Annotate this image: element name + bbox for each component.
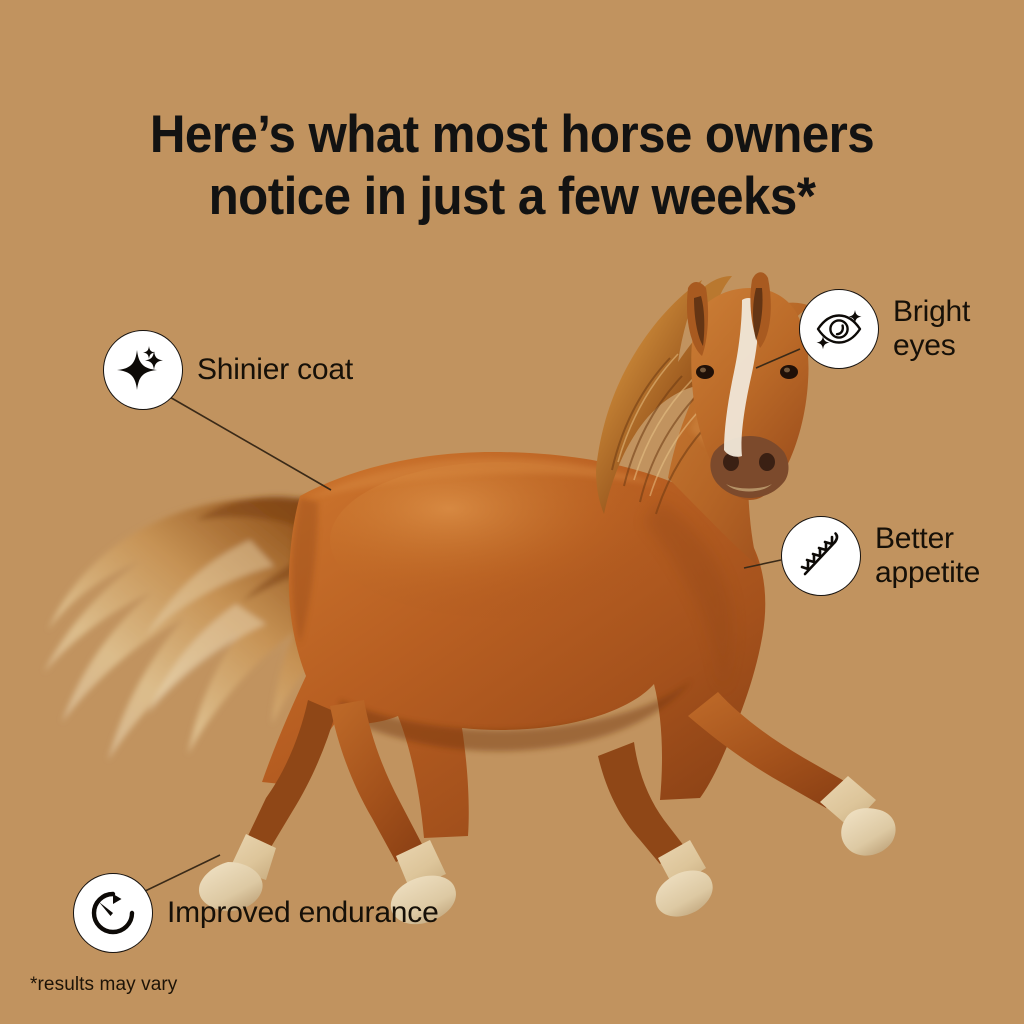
callout-label-bright-eyes: Bright eyes	[893, 295, 970, 363]
badge-improved-endurance	[73, 873, 153, 953]
page-title: Here’s what most horse owners notice in …	[36, 104, 988, 228]
callout-shinier-coat: Shinier coat	[103, 330, 353, 410]
leader-line-bright-eyes	[756, 349, 800, 368]
wheat-icon	[796, 531, 846, 581]
footnote-disclaimer: *results may vary	[30, 974, 177, 996]
badge-shinier-coat	[103, 330, 183, 410]
eye-icon	[812, 302, 866, 356]
callout-improved-endurance: Improved endurance	[73, 873, 439, 953]
badge-better-appetite	[781, 516, 861, 596]
callout-label-improved-endurance: Improved endurance	[167, 896, 439, 930]
stopwatch-icon	[87, 887, 139, 939]
leader-line-better-appetite	[744, 560, 781, 568]
promo-graphic: Here’s what most horse owners notice in …	[0, 0, 1024, 1024]
sparkle-icon	[117, 344, 169, 396]
callout-bright-eyes: Bright eyes	[799, 289, 970, 369]
callout-label-better-appetite: Better appetite	[875, 522, 980, 590]
badge-bright-eyes	[799, 289, 879, 369]
leader-line-shinier-coat	[168, 396, 331, 490]
callout-label-shinier-coat: Shinier coat	[197, 353, 353, 387]
callout-better-appetite: Better appetite	[781, 516, 980, 596]
